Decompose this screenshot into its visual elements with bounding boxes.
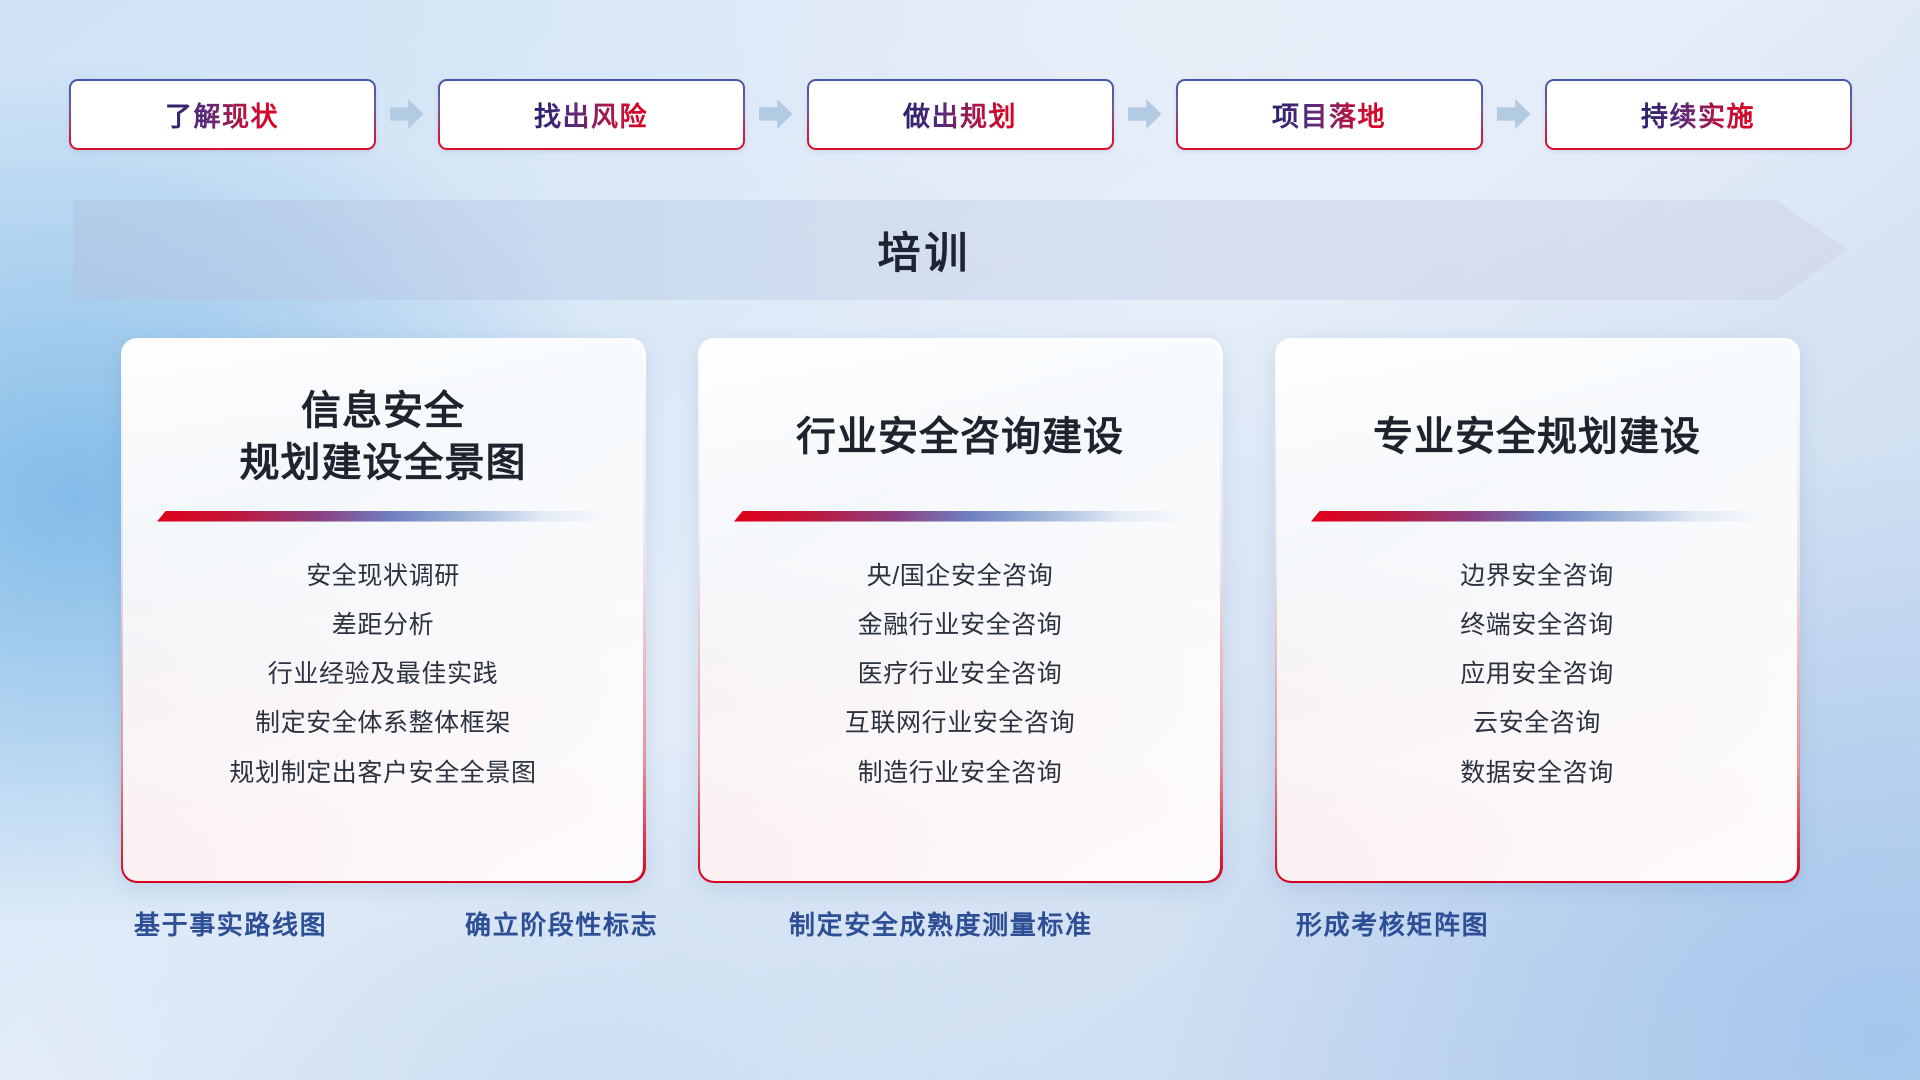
list-item: 制定安全体系整体框架 — [255, 705, 511, 741]
caption-0: 基于事实路线图 — [134, 905, 327, 942]
list-item: 互联网行业安全咨询 — [845, 705, 1075, 741]
list-item: 规划制定出客户安全全景图 — [229, 755, 536, 791]
step-label-1: 找出风险 — [534, 95, 648, 134]
card-0-title-line-0: 信息安全 — [240, 385, 527, 437]
list-item: 央/国企安全咨询 — [867, 558, 1054, 594]
card-2-title-line-0: 专业安全规划建设 — [1373, 411, 1701, 463]
step-box-2[interactable]: 做出规划 — [807, 79, 1114, 150]
card-2-divider — [1311, 511, 1763, 522]
card-0-title-line-1: 规划建设全景图 — [240, 437, 527, 489]
card-1-body: 行业安全咨询建设 央/国企安全咨询 金融行业安全咨询 医疗行业安全咨询 互联网行… — [700, 341, 1220, 881]
step-box-0[interactable]: 了解现状 — [69, 79, 376, 150]
card-0-body: 信息安全 规划建设全景图 安全现状调研 差距分析 行业经验及最佳实践 制定安全体… — [123, 341, 643, 881]
right-arrow-icon — [390, 99, 424, 129]
card-2-body: 专业安全规划建设 边界安全咨询 终端安全咨询 应用安全咨询 云安全咨询 数据安全… — [1277, 341, 1797, 881]
banner-title: 培训 — [73, 200, 1848, 300]
card-1-title: 行业安全咨询建设 — [796, 385, 1124, 489]
list-item: 边界安全咨询 — [1460, 558, 1614, 594]
card-row: 信息安全 规划建设全景图 安全现状调研 差距分析 行业经验及最佳实践 制定安全体… — [0, 338, 1920, 883]
card-0-divider — [157, 511, 609, 522]
divider-bar — [734, 511, 1186, 522]
list-item: 金融行业安全咨询 — [858, 607, 1063, 643]
step-label-0: 了解现状 — [165, 95, 279, 134]
right-arrow-icon — [759, 99, 793, 129]
divider-bar — [157, 511, 609, 522]
card-0[interactable]: 信息安全 规划建设全景图 安全现状调研 差距分析 行业经验及最佳实践 制定安全体… — [121, 338, 646, 883]
card-0-list: 安全现状调研 差距分析 行业经验及最佳实践 制定安全体系整体框架 规划制定出客户… — [229, 558, 536, 791]
card-1[interactable]: 行业安全咨询建设 央/国企安全咨询 金融行业安全咨询 医疗行业安全咨询 互联网行… — [698, 338, 1223, 883]
caption-3: 形成考核矩阵图 — [1296, 905, 1489, 942]
card-1-title-line-0: 行业安全咨询建设 — [796, 411, 1124, 463]
right-arrow-icon — [1128, 99, 1162, 129]
list-item: 差距分析 — [332, 607, 434, 643]
card-0-title: 信息安全 规划建设全景图 — [240, 385, 527, 489]
list-item: 制造行业安全咨询 — [858, 755, 1063, 791]
step-label-3: 项目落地 — [1272, 95, 1386, 134]
step-box-3[interactable]: 项目落地 — [1176, 79, 1483, 150]
step-box-4[interactable]: 持续实施 — [1545, 79, 1852, 150]
caption-1: 确立阶段性标志 — [465, 905, 658, 942]
card-1-list: 央/国企安全咨询 金融行业安全咨询 医疗行业安全咨询 互联网行业安全咨询 制造行… — [845, 558, 1075, 791]
list-item: 医疗行业安全咨询 — [858, 656, 1063, 692]
caption-row: 基于事实路线图 确立阶段性标志 制定安全成熟度测量标准 形成考核矩阵图 — [0, 905, 1920, 965]
step-box-1[interactable]: 找出风险 — [438, 79, 745, 150]
list-item: 行业经验及最佳实践 — [268, 656, 498, 692]
list-item: 终端安全咨询 — [1460, 607, 1614, 643]
list-item: 数据安全咨询 — [1460, 755, 1614, 791]
list-item: 云安全咨询 — [1473, 705, 1601, 741]
card-2[interactable]: 专业安全规划建设 边界安全咨询 终端安全咨询 应用安全咨询 云安全咨询 数据安全… — [1275, 338, 1800, 883]
step-label-4: 持续实施 — [1641, 95, 1755, 134]
card-2-list: 边界安全咨询 终端安全咨询 应用安全咨询 云安全咨询 数据安全咨询 — [1460, 558, 1614, 791]
process-step-row: 了解现状 找出风险 做出规划 项目落地 持续实施 — [0, 78, 1920, 150]
list-item: 安全现状调研 — [306, 558, 460, 594]
right-arrow-icon — [1497, 99, 1531, 129]
list-item: 应用安全咨询 — [1460, 656, 1614, 692]
card-2-title: 专业安全规划建设 — [1373, 385, 1701, 489]
card-1-divider — [734, 511, 1186, 522]
divider-bar — [1311, 511, 1763, 522]
caption-2: 制定安全成熟度测量标准 — [789, 905, 1093, 942]
training-banner: 培训 — [73, 200, 1848, 300]
step-label-2: 做出规划 — [903, 95, 1017, 134]
